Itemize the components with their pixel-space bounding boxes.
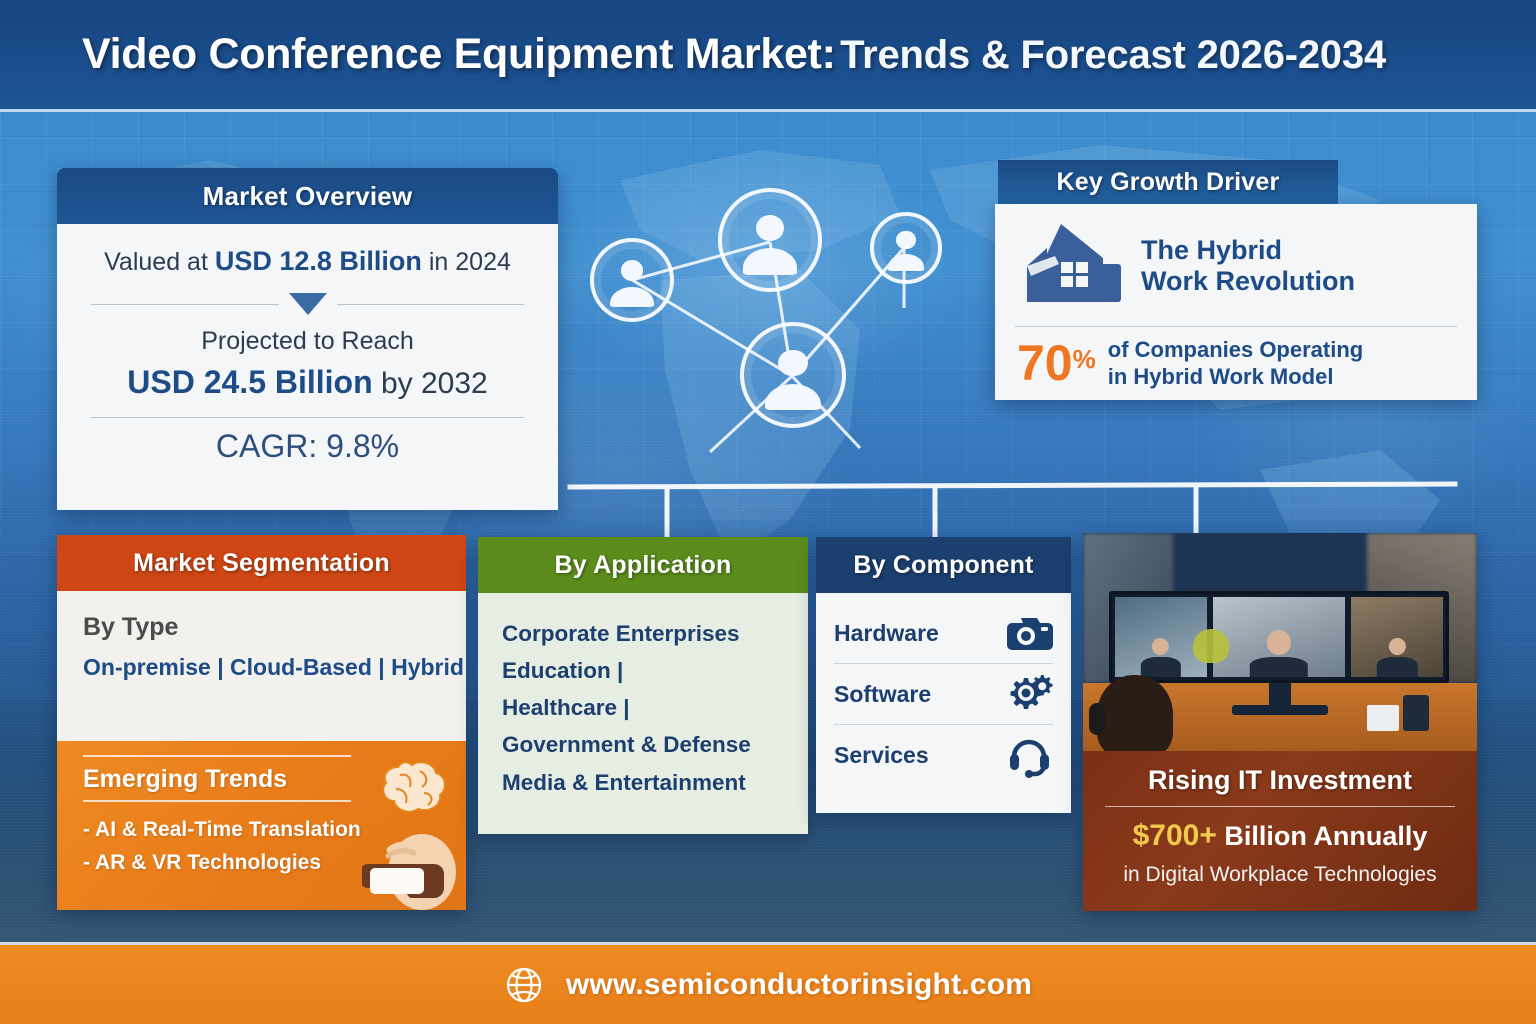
divider-with-arrow [91,293,524,315]
component-row: Services [834,725,1053,786]
market-value-2024: USD 12.8 Billion [215,246,422,276]
photo-monitor [1109,591,1449,683]
photo-monitor-base [1232,705,1328,715]
photo-pane [1115,597,1207,677]
market-overview-card: Market Overview Valued at USD 12.8 Billi… [57,168,558,510]
valued-at-suffix: in 2024 [422,248,511,276]
it-investment-amount-line: $700+ Billion Annually [1101,819,1459,853]
it-investment-amount-suffix: Billion Annually [1217,821,1428,851]
vr-headset-icon [362,828,462,910]
divider-rule-right [337,304,525,305]
hybrid-note-line1: of Companies Operating [1108,337,1363,364]
cagr-line: CAGR: 9.8% [216,428,399,465]
application-item: Media & Entertainment [502,764,784,801]
application-item: Government & Defense [502,726,784,763]
emerging-trends-section: Emerging Trends - AI & Real-Time Transla… [57,741,466,910]
it-investment-title: Rising IT Investment [1101,765,1459,796]
by-component-card: By Component Hardware Software [816,537,1071,813]
website-url[interactable]: www.semiconductorinsight.com [566,968,1032,1002]
it-investment-amount: $700+ [1133,819,1217,852]
gears-icon [1005,672,1053,716]
market-overview-heading: Market Overview [57,168,558,224]
application-item: Corporate Enterprises [502,615,784,652]
trends-rule-bottom [83,800,351,802]
cagr-value: 9.8% [326,428,399,464]
market-value-2032: USD 24.5 Billion [127,364,372,400]
photo-tablet [1403,695,1429,731]
by-application-body: Corporate Enterprises Education | Health… [478,593,808,834]
page-subtitle: Trends & Forecast 2026-2034 [840,33,1386,77]
percent-symbol: % [1073,344,1096,374]
photo-participant [1141,638,1181,677]
by-component-heading: By Component [816,537,1071,593]
projection-year: by 2032 [373,367,488,400]
infographic-canvas: Video Conference Equipment Market: Trend… [0,0,1536,1024]
divider-rule-left [91,304,279,305]
photo-headphone-cup [1089,703,1105,735]
growth-driver-title-line1: The Hybrid [1141,235,1355,266]
market-value-line: Valued at USD 12.8 Billion in 2024 [104,246,511,277]
camera-icon [1005,614,1053,652]
page-footer: www.semiconductorinsight.com [0,942,1536,1024]
component-label: Hardware [834,620,939,647]
application-item: Education | [502,652,784,689]
type-values: On-premise | Cloud-Based | Hybrid [83,654,440,681]
by-type-label: By Type [83,613,440,642]
brain-icon [378,755,454,821]
component-row: Software [834,664,1053,725]
avatar [740,322,846,428]
component-row: Hardware [834,603,1053,664]
application-item: Healthcare | [502,689,784,726]
house-icon [1013,218,1125,314]
photo-pane [1213,597,1346,677]
page-title: Video Conference Equipment Market: [82,30,836,78]
market-segmentation-card: Market Segmentation By Type On-premise |… [57,535,466,910]
avatar [718,188,822,292]
avatar [590,238,674,322]
headset-icon [1005,733,1053,779]
growth-driver-title: The Hybrid Work Revolution [1141,235,1355,297]
photo-paper [1367,705,1399,731]
projected-label: Projected to Reach [201,327,414,356]
it-investment-divider [1105,806,1455,807]
it-investment-subtitle: in Digital Workplace Technologies [1101,863,1459,887]
photo-foreground-person [1097,675,1173,751]
by-application-heading: By Application [478,537,808,593]
projection-line: USD 24.5 Billion by 2032 [127,364,487,401]
by-component-body: Hardware Software [816,593,1071,813]
photo-participant [1377,638,1417,677]
growth-driver-heading: Key Growth Driver [998,160,1338,204]
photo-plant [1193,629,1229,663]
hybrid-note: of Companies Operating in Hybrid Work Mo… [1108,337,1363,391]
video-conference-photo [1083,533,1477,751]
key-growth-driver-card: Key Growth Driver [995,160,1477,400]
growth-driver-divider [1015,326,1457,327]
growth-driver-title-line2: Work Revolution [1141,266,1355,297]
page-header: Video Conference Equipment Market: Trend… [0,0,1536,112]
growth-driver-body: The Hybrid Work Revolution 70% of Compan… [995,204,1477,400]
global-network-graphic [560,180,1020,500]
photo-pane [1351,597,1443,677]
trends-rule-top [83,755,351,757]
divider-rule-bottom [91,417,524,418]
it-investment-body: Rising IT Investment $700+ Billion Annua… [1083,751,1477,911]
growth-driver-top: The Hybrid Work Revolution [1013,218,1459,314]
component-label: Software [834,681,931,708]
hybrid-note-line2: in Hybrid Work Model [1108,364,1363,391]
triangle-down-icon [289,293,327,315]
hybrid-percent: 70% [1017,340,1096,388]
cagr-label: CAGR: [216,428,326,464]
segmentation-heading: Market Segmentation [57,535,466,591]
market-overview-body: Valued at USD 12.8 Billion in 2024 Proje… [57,224,558,510]
segmentation-type-section: By Type On-premise | Cloud-Based | Hybri… [57,591,466,741]
header-title-group: Video Conference Equipment Market: Trend… [82,30,1386,79]
by-application-card: By Application Corporate Enterprises Edu… [478,537,808,834]
component-label: Services [834,742,929,769]
globe-icon [504,965,544,1005]
growth-driver-stat: 70% of Companies Operating in Hybrid Wor… [1013,337,1459,391]
valued-at-prefix: Valued at [104,248,215,276]
it-investment-card: Rising IT Investment $700+ Billion Annua… [1083,533,1477,911]
avatar [870,212,942,284]
photo-monitor-stand [1269,683,1291,707]
photo-participant [1250,630,1308,677]
hybrid-percent-value: 70 [1017,335,1073,391]
